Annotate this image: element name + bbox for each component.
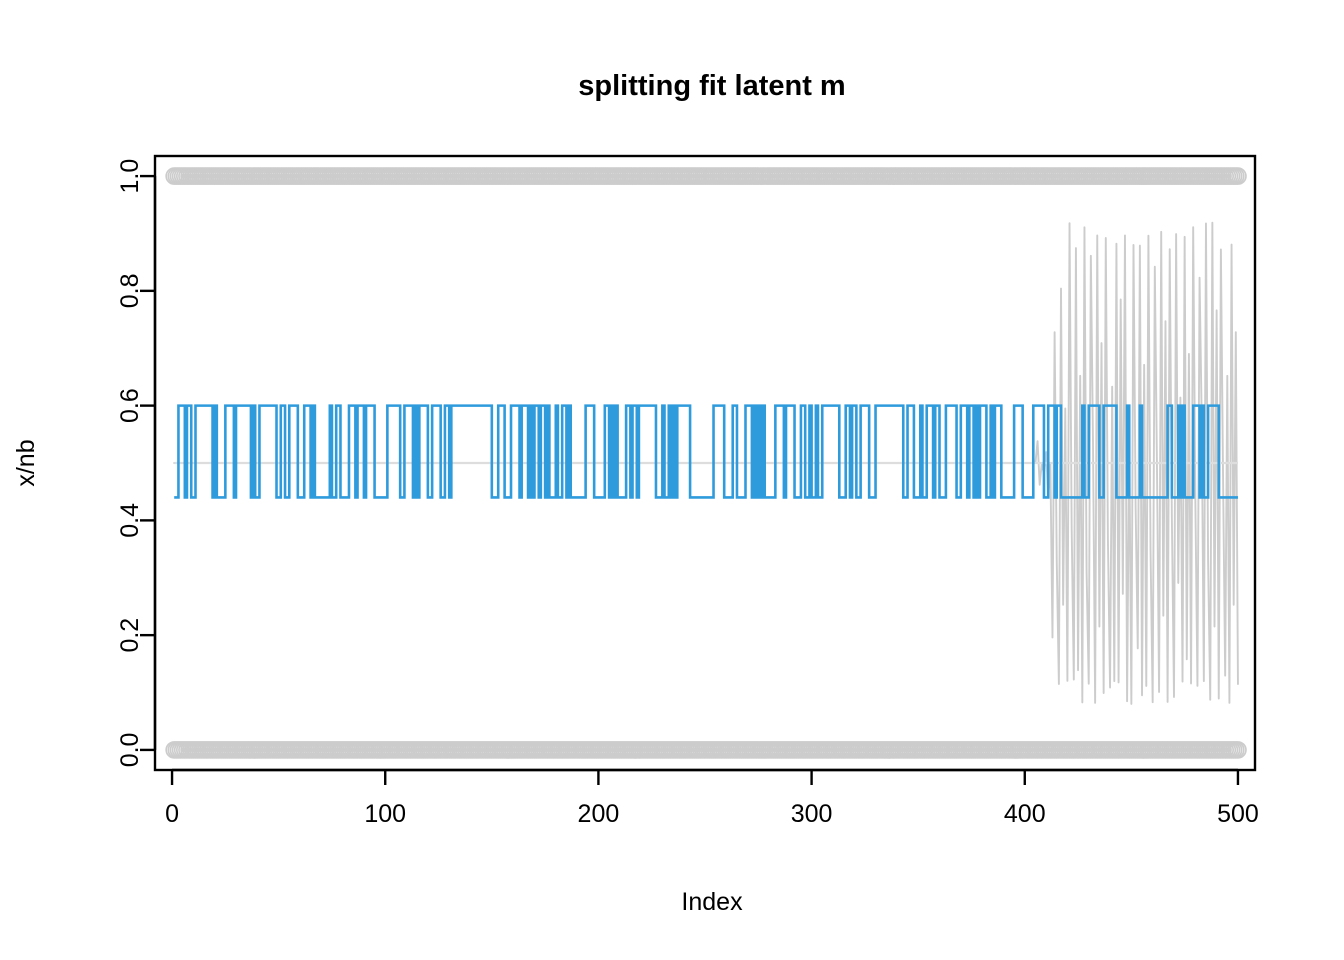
x-axis-title: Index (681, 888, 743, 916)
x-tick-label: 100 (364, 800, 406, 828)
x-tick-label: 200 (578, 800, 620, 828)
y-tick-label: 0.6 (116, 388, 144, 423)
x-tick-label: 300 (791, 800, 833, 828)
x-tick-label: 0 (165, 800, 179, 828)
y-tick-label: 0.8 (116, 273, 144, 308)
point-row-one (166, 168, 1246, 184)
y-tick-label: 0.4 (116, 503, 144, 538)
x-tick-label: 400 (1004, 800, 1046, 828)
x-tick-label: 500 (1217, 800, 1259, 828)
y-tick-label: 0.2 (116, 618, 144, 653)
plot-canvas: splitting fit latent m 0.00.20.40.60.81.… (0, 0, 1344, 960)
chart-container: splitting fit latent m 0.00.20.40.60.81.… (0, 0, 1344, 960)
point-row-zero (166, 742, 1246, 758)
y-axis-title: x/nb (12, 439, 40, 486)
page-title: splitting fit latent m (578, 70, 845, 102)
y-tick-label: 1.0 (116, 159, 144, 194)
y-tick-label: 0.0 (116, 733, 144, 768)
